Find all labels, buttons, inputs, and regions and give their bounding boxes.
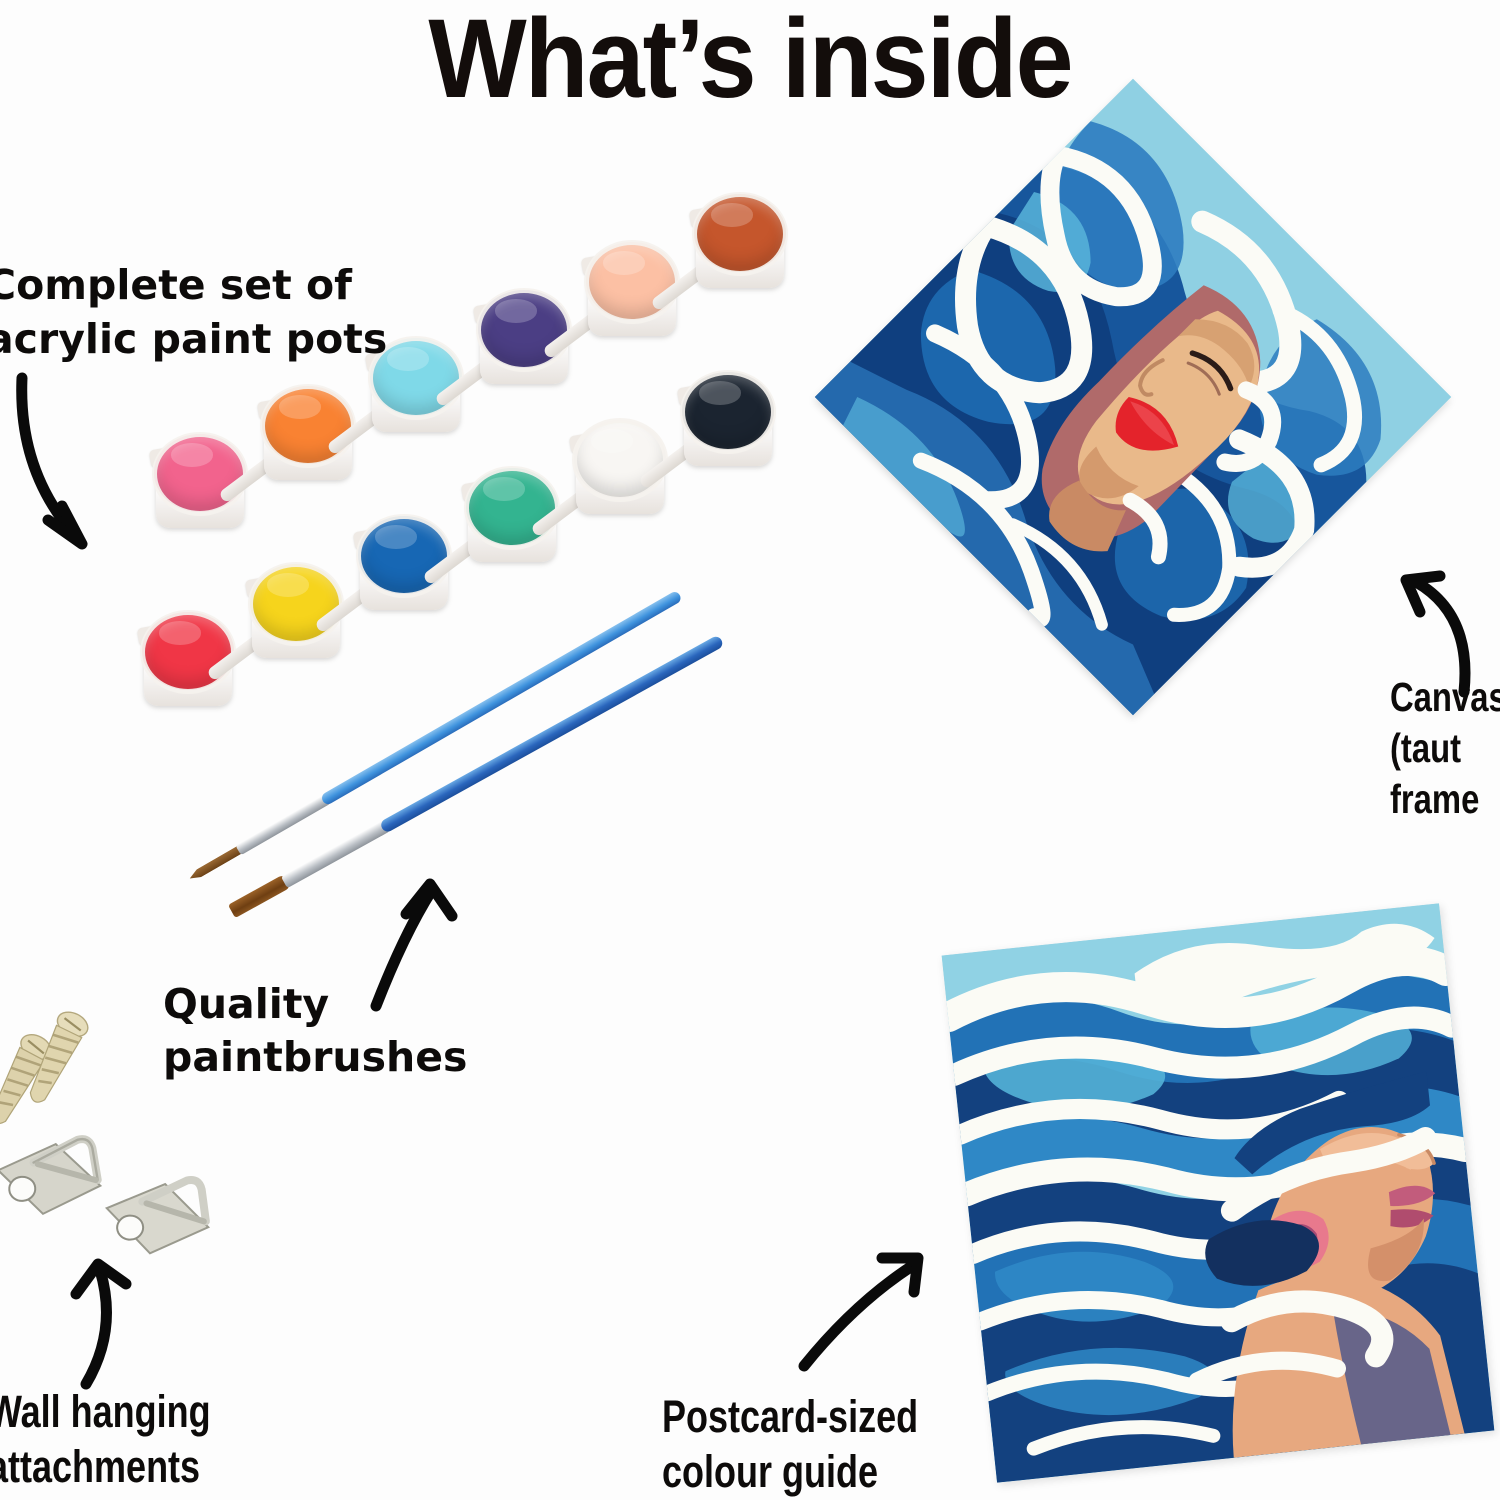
paint-pot-rim [152, 432, 248, 516]
paint-pot-rim [260, 384, 356, 468]
arrow-to-paint-pots [8, 372, 128, 572]
arrow-to-canvas [1376, 556, 1500, 696]
arrow-to-wall-hanging [60, 1256, 180, 1396]
callout-label-paint-pots: Complete set of acrylic paint pots [0, 258, 387, 366]
paint-pot-black [680, 372, 776, 468]
paint-pot-rim [692, 192, 788, 276]
callout-label-wall-hanging: Wall hanging attachments [0, 1385, 211, 1495]
paint-pot-rim [464, 466, 560, 550]
paint-pot-rust [692, 194, 788, 290]
paint-pot-rim [572, 418, 668, 502]
arrow-to-postcard [796, 1236, 956, 1386]
page-title: What’s inside [332, 0, 1169, 123]
paint-pot-rim [680, 370, 776, 454]
paint-pot-rim [356, 514, 452, 598]
postcard-colour-guide [942, 903, 1495, 1482]
canvas-artwork [815, 79, 1451, 715]
paint-pot-rim [584, 240, 680, 324]
paint-pot-rim [140, 610, 236, 694]
paint-pot-rim [476, 288, 572, 372]
paint-pot-rim [248, 562, 344, 646]
arrow-to-paintbrushes [370, 860, 500, 1010]
infographic-canvas: What’s inside [0, 0, 1500, 1500]
callout-label-postcard: Postcard-sized colour guide [662, 1390, 918, 1500]
